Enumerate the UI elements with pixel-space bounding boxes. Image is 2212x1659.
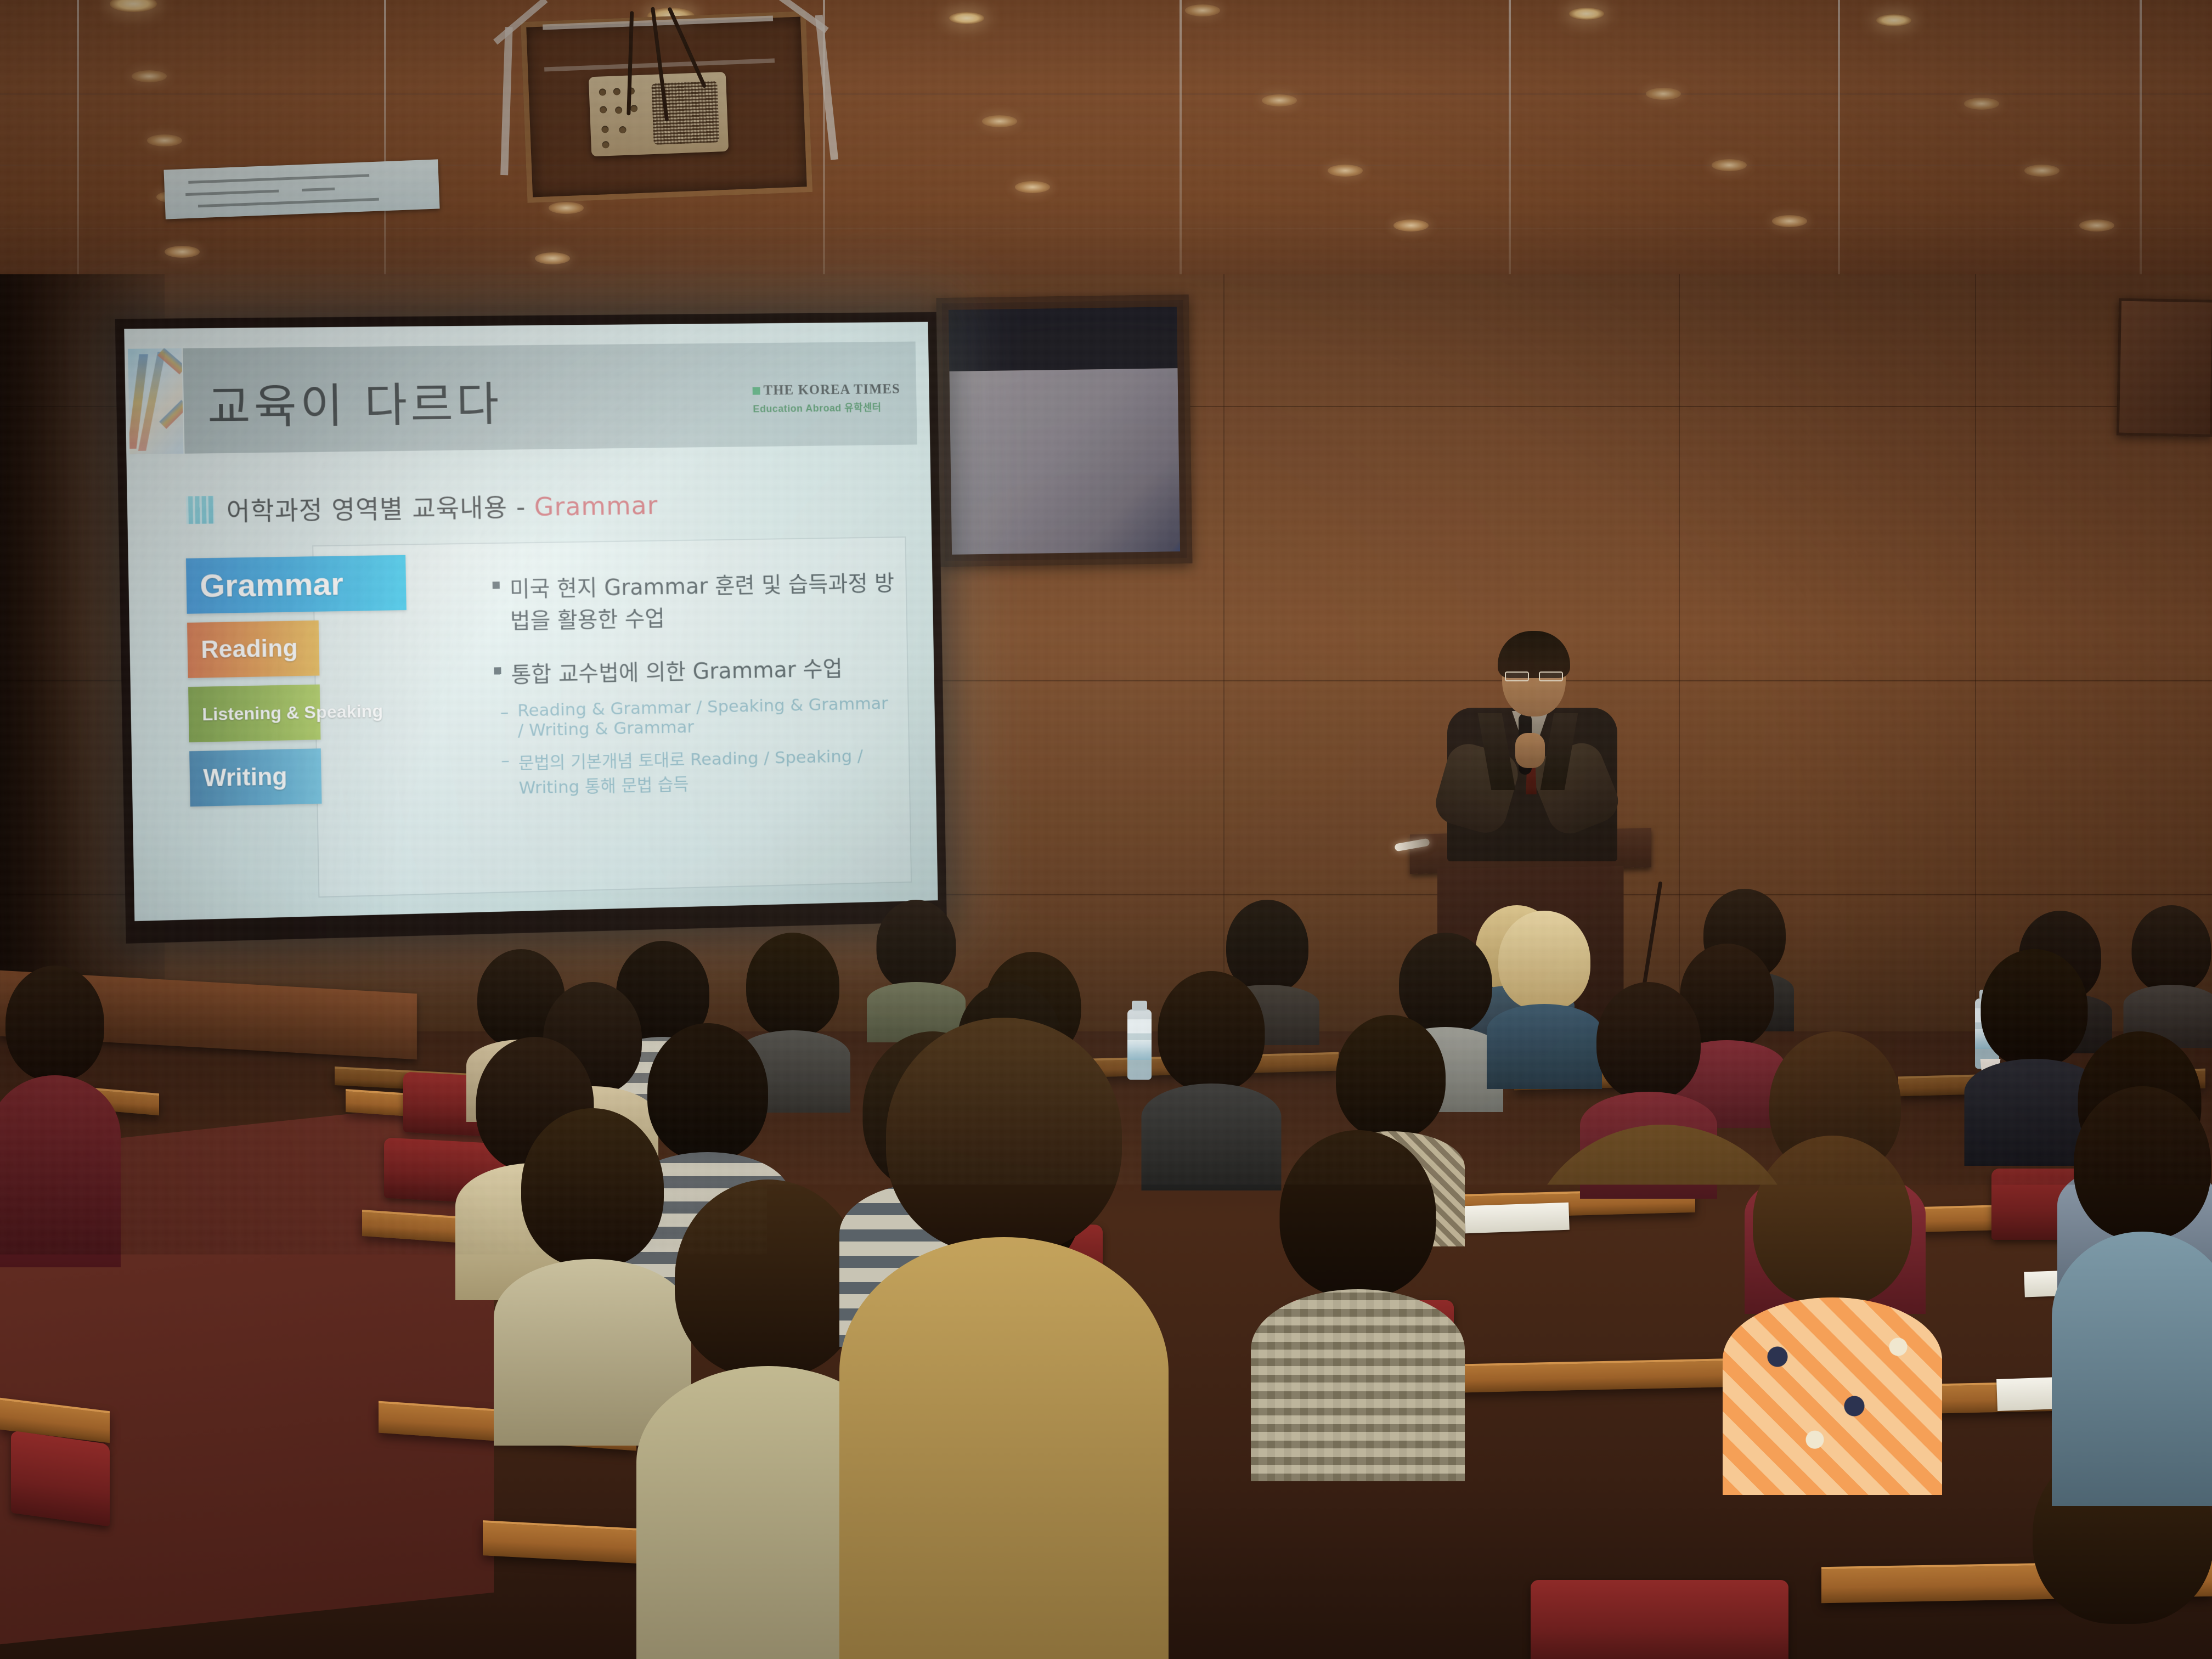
ceiling-downlight	[2079, 219, 2114, 232]
ceiling-downlight	[1015, 181, 1050, 193]
lecture-hall-photo: 교육이 다르다 THE KOREA TIMES Education Abroad…	[0, 0, 2212, 1659]
ceiling-projector	[589, 72, 729, 156]
ceiling-downlight	[535, 252, 570, 264]
dash-icon: –	[501, 751, 510, 770]
ceiling-downlight	[1964, 98, 1999, 110]
bullet-item: 통합 교수법에 의한 Grammar 수업	[494, 650, 896, 690]
ceiling-downlight	[1772, 215, 1807, 227]
projection-screen: 교육이 다르다 THE KOREA TIMES Education Abroad…	[115, 312, 947, 944]
audience-member-foreground	[0, 966, 121, 1262]
sub-bullet-item: – 문법의 기본개념 토대로 Reading / Speaking / Writ…	[501, 741, 899, 799]
bullet-square-icon	[493, 582, 500, 589]
ceiling-downlight	[1393, 219, 1429, 232]
tab-grammar[interactable]: Grammar	[186, 555, 407, 614]
ceiling	[0, 0, 2212, 285]
tab-reading[interactable]: Reading	[187, 620, 319, 678]
ceiling-downlight	[1569, 8, 1604, 20]
ceiling-downlight	[949, 12, 984, 24]
tab-listening-speaking[interactable]: Listening & Speaking	[188, 685, 320, 743]
korea-times-k-logo-icon	[128, 348, 183, 454]
brand-lockup: THE KOREA TIMES Education Abroad 유학센터	[753, 382, 901, 415]
slide-subtitle: 어학과정 영역별 교육내용 - Grammar	[226, 486, 658, 528]
brand-tagline: Education Abroad 유학센터	[753, 400, 900, 416]
bullet-square-icon	[494, 667, 501, 674]
audience-member-foreground	[839, 1018, 1169, 1659]
dash-icon: –	[500, 702, 509, 722]
slide-subtitle-row: 어학과정 영역별 교육내용 - Grammar	[186, 486, 658, 528]
presenter	[1432, 631, 1629, 861]
slide-title: 교육이 다르다	[207, 368, 503, 437]
section-marker-icon	[186, 496, 215, 524]
bullet-text: 통합 교수법에 의한 Grammar 수업	[511, 651, 843, 689]
sub-bullet-item: – Reading & Grammar / Speaking & Grammar…	[500, 693, 897, 741]
sub-bullet-text: Reading & Grammar / Speaking & Grammar /…	[517, 693, 898, 741]
ceiling-downlight	[982, 115, 1017, 127]
wall-speaker	[2117, 298, 2212, 437]
ceiling-downlight	[1328, 165, 1363, 177]
ceiling-downlight	[132, 70, 167, 82]
glasses-icon	[1505, 672, 1563, 681]
tab-reading-label: Reading	[201, 635, 298, 664]
slide-surface: 교육이 다르다 THE KOREA TIMES Education Abroad…	[124, 322, 938, 921]
ceiling-downlight	[147, 134, 182, 146]
ceiling-downlight	[1712, 159, 1747, 171]
bullet-item: 미국 현지 Grammar 훈련 및 습득과정 방법을 활용한 수업	[492, 566, 895, 636]
tab-grammar-label: Grammar	[200, 565, 344, 605]
chair	[11, 1430, 110, 1526]
brand-name: THE KOREA TIMES	[753, 382, 900, 399]
tab-writing-label: Writing	[203, 763, 287, 793]
ceiling-downlight	[2024, 165, 2059, 177]
skill-tab-list: Grammar Reading Listening & Speaking Wri…	[186, 556, 369, 816]
ceiling-downlight	[110, 0, 157, 12]
audience-member-foreground	[2052, 1086, 2212, 1503]
tab-writing[interactable]: Writing	[189, 748, 321, 806]
ceiling-downlight	[1646, 88, 1681, 100]
audience-member	[2123, 905, 2212, 1042]
slide-bullet-list: 미국 현지 Grammar 훈련 및 습득과정 방법을 활용한 수업 통합 교수…	[492, 566, 899, 808]
projector-info-sign	[163, 159, 439, 219]
audience-member-foreground	[1437, 1125, 1887, 1659]
ceiling-downlight	[1185, 4, 1220, 16]
ceiling-downlight	[165, 246, 200, 258]
wall-display-panel	[936, 295, 1193, 567]
projector-mount-cage	[521, 11, 812, 203]
ceiling-downlight	[549, 202, 584, 214]
tab-listening-speaking-label: Listening & Speaking	[202, 701, 383, 725]
brand-square-icon	[753, 387, 760, 395]
slide-header-bar: 교육이 다르다 THE KOREA TIMES Education Abroad…	[183, 342, 917, 454]
ceiling-downlight	[1876, 14, 1911, 26]
sub-bullet-text: 문법의 기본개념 토대로 Reading / Speaking / Writin…	[518, 741, 898, 799]
ceiling-downlight	[1262, 94, 1297, 106]
bullet-text: 미국 현지 Grammar 훈련 및 습득과정 방법을 활용한 수업	[509, 566, 895, 635]
slide-subtitle-accent: Grammar	[534, 490, 658, 522]
